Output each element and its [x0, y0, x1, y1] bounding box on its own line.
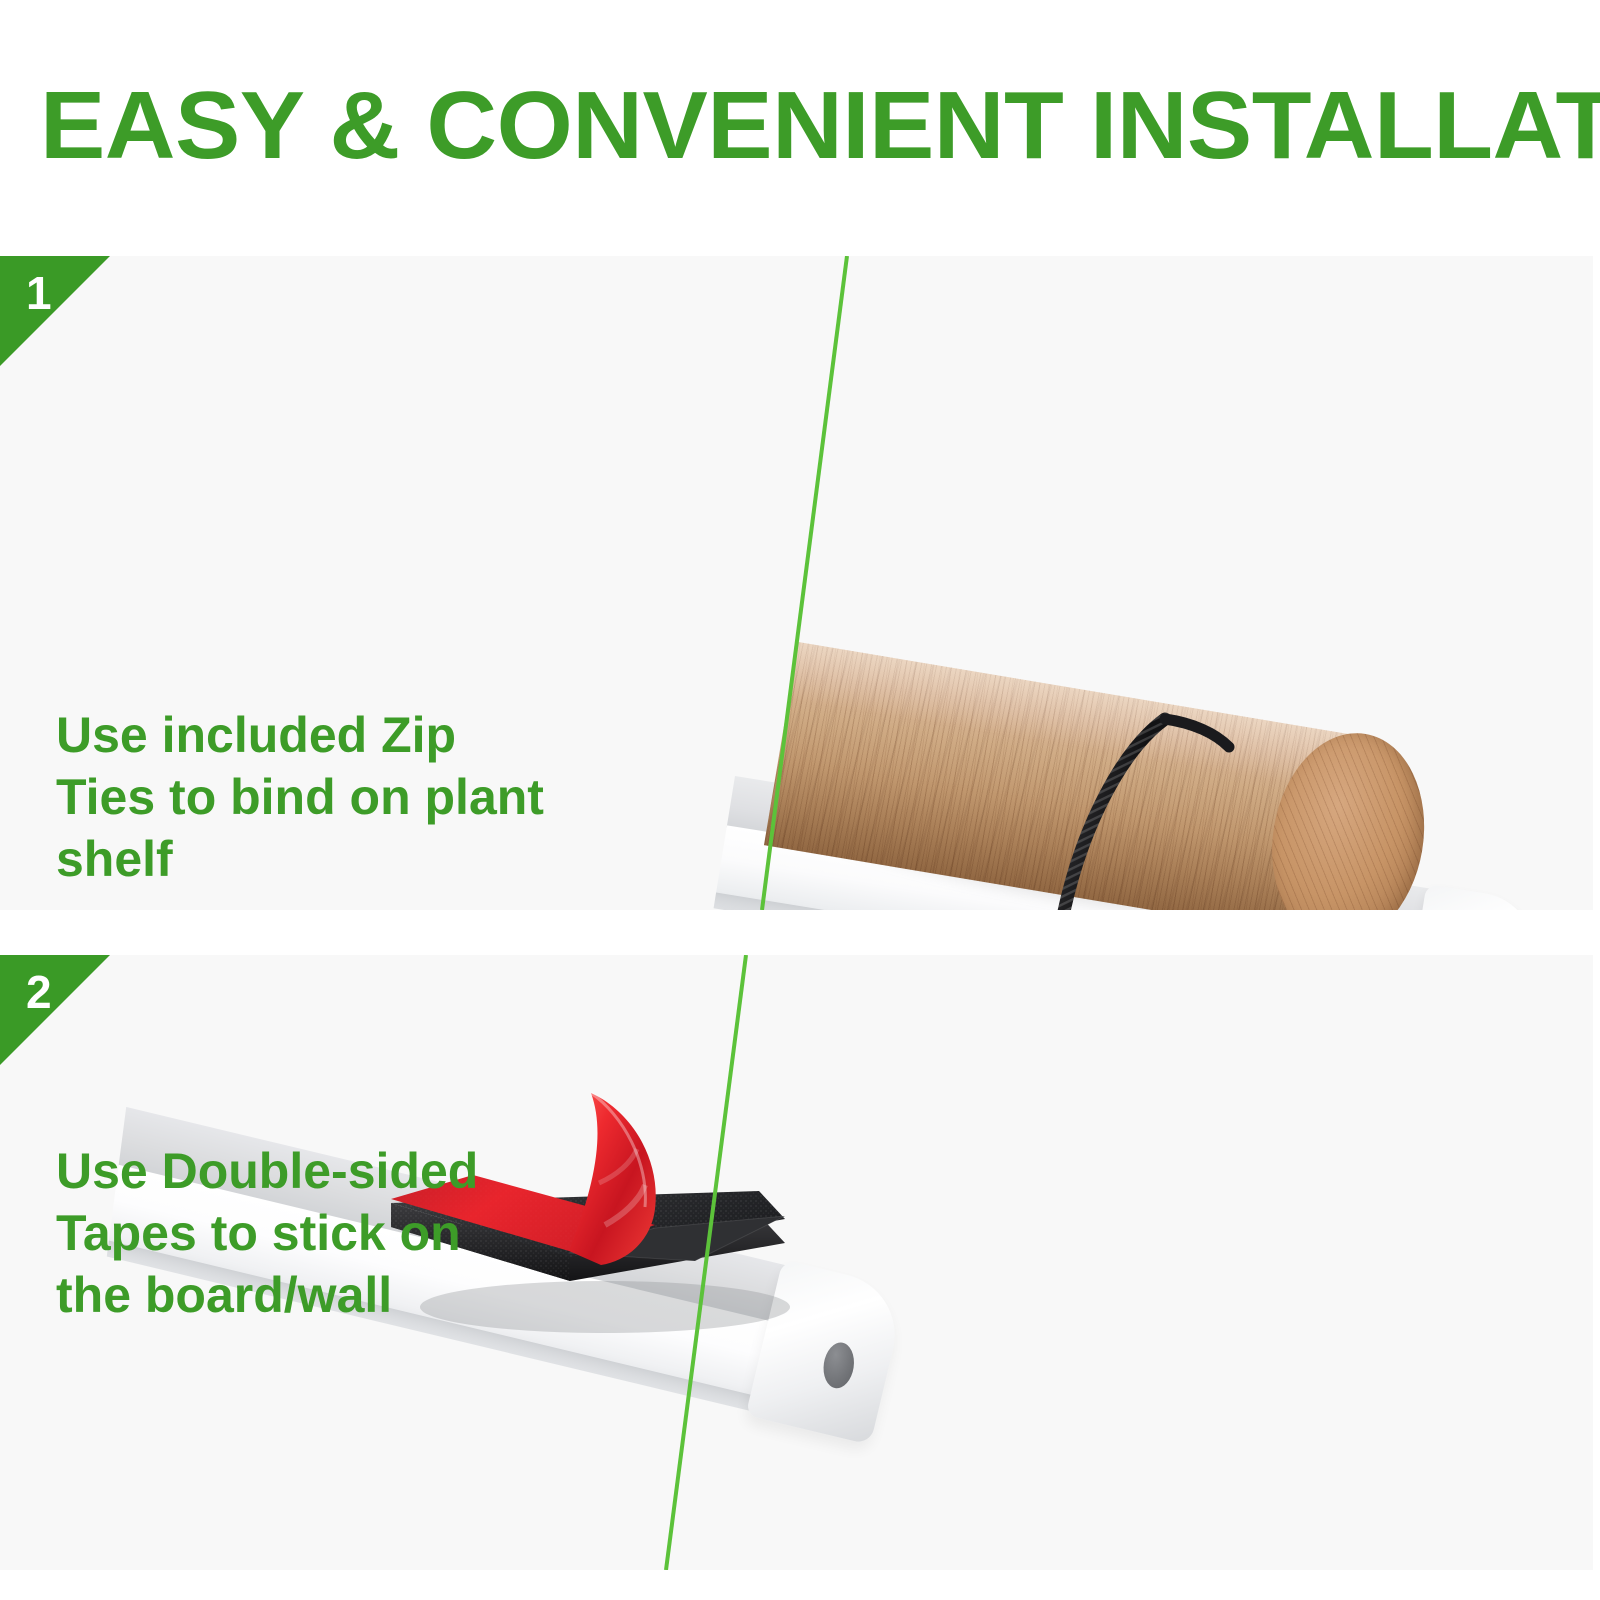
- page-title: EASY & CONVENIENT INSTALLATION: [40, 72, 1600, 182]
- caption-line: Use included Zip: [56, 704, 696, 766]
- step-number: 2: [26, 969, 66, 1015]
- caption-line: Ties to bind on plant: [56, 766, 696, 828]
- step-number: 1: [26, 270, 66, 316]
- zip-tie-svg: [1025, 711, 1255, 910]
- step-2-caption: Use Double-sided Tapes to stick on the b…: [56, 1140, 696, 1326]
- caption-line: shelf: [56, 828, 696, 890]
- step-badge-1: 1: [0, 256, 110, 366]
- caption-line: Tapes to stick on: [56, 1202, 696, 1264]
- black-zip-tie: [1025, 711, 1255, 910]
- product-infographic: EASY & CONVENIENT INSTALLATION: [0, 0, 1600, 1600]
- step-panel-1: 1 Use included Zip Ties to bind on plant…: [0, 256, 1593, 910]
- step-badge-2: 2: [0, 955, 110, 1065]
- step-1-caption: Use included Zip Ties to bind on plant s…: [56, 704, 696, 890]
- caption-line: the board/wall: [56, 1264, 696, 1326]
- step-panel-2: 2 Use Double-sided Tapes to stick on the…: [0, 955, 1593, 1570]
- caption-line: Use Double-sided: [56, 1140, 696, 1202]
